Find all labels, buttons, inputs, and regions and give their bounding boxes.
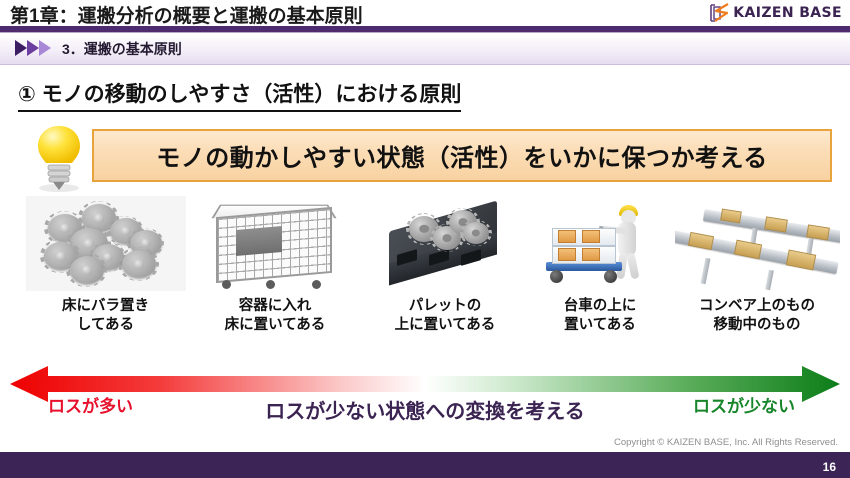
- wire-mesh-container-icon: [208, 196, 343, 291]
- lightbulb-icon: [30, 122, 88, 194]
- slide-header: 第1章：運搬分析の概要と運搬の基本原則 KAIZEN BASE: [0, 0, 850, 26]
- hand-cart-worker-icon: [538, 196, 663, 291]
- roller-conveyor-icon: [675, 196, 840, 291]
- state-items-row: 床にバラ置き してある 容器に入れ 床に置いてある: [0, 196, 850, 356]
- list-item: コンベア上のもの 移動中のもの: [672, 196, 842, 335]
- sub-header-label: 3．運搬の基本原則: [62, 39, 182, 59]
- list-item: 台車の上に 置いてある: [530, 196, 670, 335]
- list-item: 床にバラ置き してある: [18, 196, 193, 335]
- list-item-caption: 床にバラ置き してある: [18, 297, 193, 335]
- brand-logo-text: KAIZEN BASE: [733, 5, 842, 21]
- list-item-caption: パレットの 上に置いてある: [365, 297, 525, 335]
- sub-header: 3．運搬の基本原則: [0, 33, 850, 65]
- triple-chevron-right-icon: [14, 39, 58, 57]
- scattered-gears-icon: [26, 196, 186, 291]
- scale-message: ロスが少ない状態への変換を考える: [0, 395, 850, 424]
- page-title: ① モノの移動のしやすさ（活性）における原則: [18, 78, 461, 112]
- list-item-caption: コンベア上のもの 移動中のもの: [672, 297, 842, 335]
- page-number: 16: [823, 460, 836, 474]
- list-item: 容器に入れ 床に置いてある: [190, 196, 360, 335]
- chapter-title: 第1章：運搬分析の概要と運搬の基本原則: [10, 1, 363, 28]
- list-item: パレットの 上に置いてある: [365, 196, 525, 335]
- list-item-caption: 容器に入れ 床に置いてある: [190, 297, 360, 335]
- list-item-caption: 台車の上に 置いてある: [530, 297, 670, 335]
- pallet-with-parts-icon: [375, 196, 515, 291]
- slide-root: 第1章：運搬分析の概要と運搬の基本原則 KAIZEN BASE 3．運搬の基本原…: [0, 0, 850, 478]
- key-message-text: モノの動かしやすい状態（活性）をいかに保つか考える: [156, 138, 768, 173]
- kaizen-k-mark-icon: [707, 3, 729, 23]
- copyright-text: Copyright © KAIZEN BASE, Inc. All Rights…: [614, 437, 838, 448]
- footer-bar: [0, 452, 850, 478]
- key-message-banner: モノの動かしやすい状態（活性）をいかに保つか考える: [92, 129, 832, 182]
- brand-logo: KAIZEN BASE: [707, 3, 842, 23]
